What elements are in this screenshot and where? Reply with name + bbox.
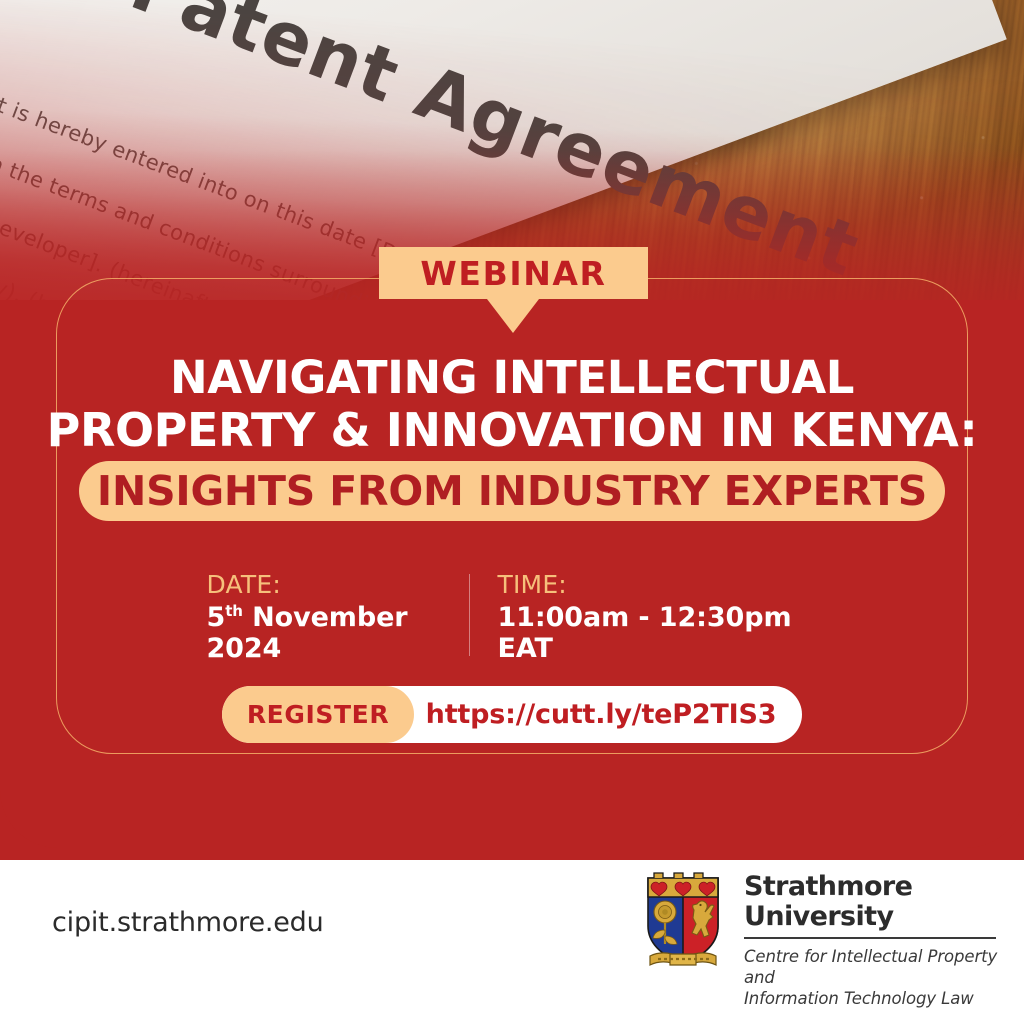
logo-divider (744, 937, 996, 939)
register-button[interactable]: REGISTER (222, 686, 414, 743)
register-url-link[interactable]: https://cutt.ly/teP2TIS3 (414, 699, 802, 730)
subtitle-pill: INSIGHTS FROM INDUSTRY EXPERTS (79, 461, 945, 521)
register-button-label: REGISTER (247, 700, 389, 729)
page-title: NAVIGATING INTELLECTUAL PROPERTY & INNOV… (0, 352, 1024, 456)
headline-line-1: NAVIGATING INTELLECTUAL (0, 352, 1024, 404)
date-day: 5 (207, 602, 226, 633)
event-details: DATE: 5th November 2024 TIME: 11:00am - … (0, 570, 1024, 664)
register-row[interactable]: REGISTER https://cutt.ly/teP2TIS3 (222, 686, 802, 743)
time-value: 11:00am - 12:30pm EAT (498, 602, 818, 664)
headline-line-2: PROPERTY & INNOVATION IN KENYA: (0, 404, 1024, 456)
logo-text-block: Strathmore University Centre for Intelle… (744, 864, 1024, 1009)
footer: cipit.strathmore.edu (0, 860, 1024, 1024)
university-name: Strathmore University (744, 872, 1024, 932)
time-label: TIME: (498, 570, 818, 599)
webinar-poster: Patent Agreement t is hereby entered int… (0, 0, 1024, 1024)
date-label: DATE: (207, 570, 469, 599)
date-block: DATE: 5th November 2024 (207, 570, 469, 664)
date-ordinal: th (225, 602, 243, 620)
strathmore-logo: Strathmore University Centre for Intelle… (640, 864, 1024, 1009)
centre-name-line-1: Centre for Intellectual Property and (744, 946, 1024, 988)
centre-name-line-2: Information Technology Law (744, 988, 1024, 1009)
webinar-badge-pointer-icon (487, 299, 539, 333)
subtitle-text: INSIGHTS FROM INDUSTRY EXPERTS (97, 467, 927, 515)
time-block: TIME: 11:00am - 12:30pm EAT (470, 570, 818, 664)
date-value: 5th November 2024 (207, 602, 469, 664)
centre-name: Centre for Intellectual Property and Inf… (744, 946, 1024, 1009)
site-url[interactable]: cipit.strathmore.edu (52, 907, 324, 938)
webinar-badge-label: WEBINAR (420, 254, 606, 293)
coat-of-arms-icon (640, 864, 726, 976)
webinar-badge: WEBINAR (379, 247, 648, 299)
